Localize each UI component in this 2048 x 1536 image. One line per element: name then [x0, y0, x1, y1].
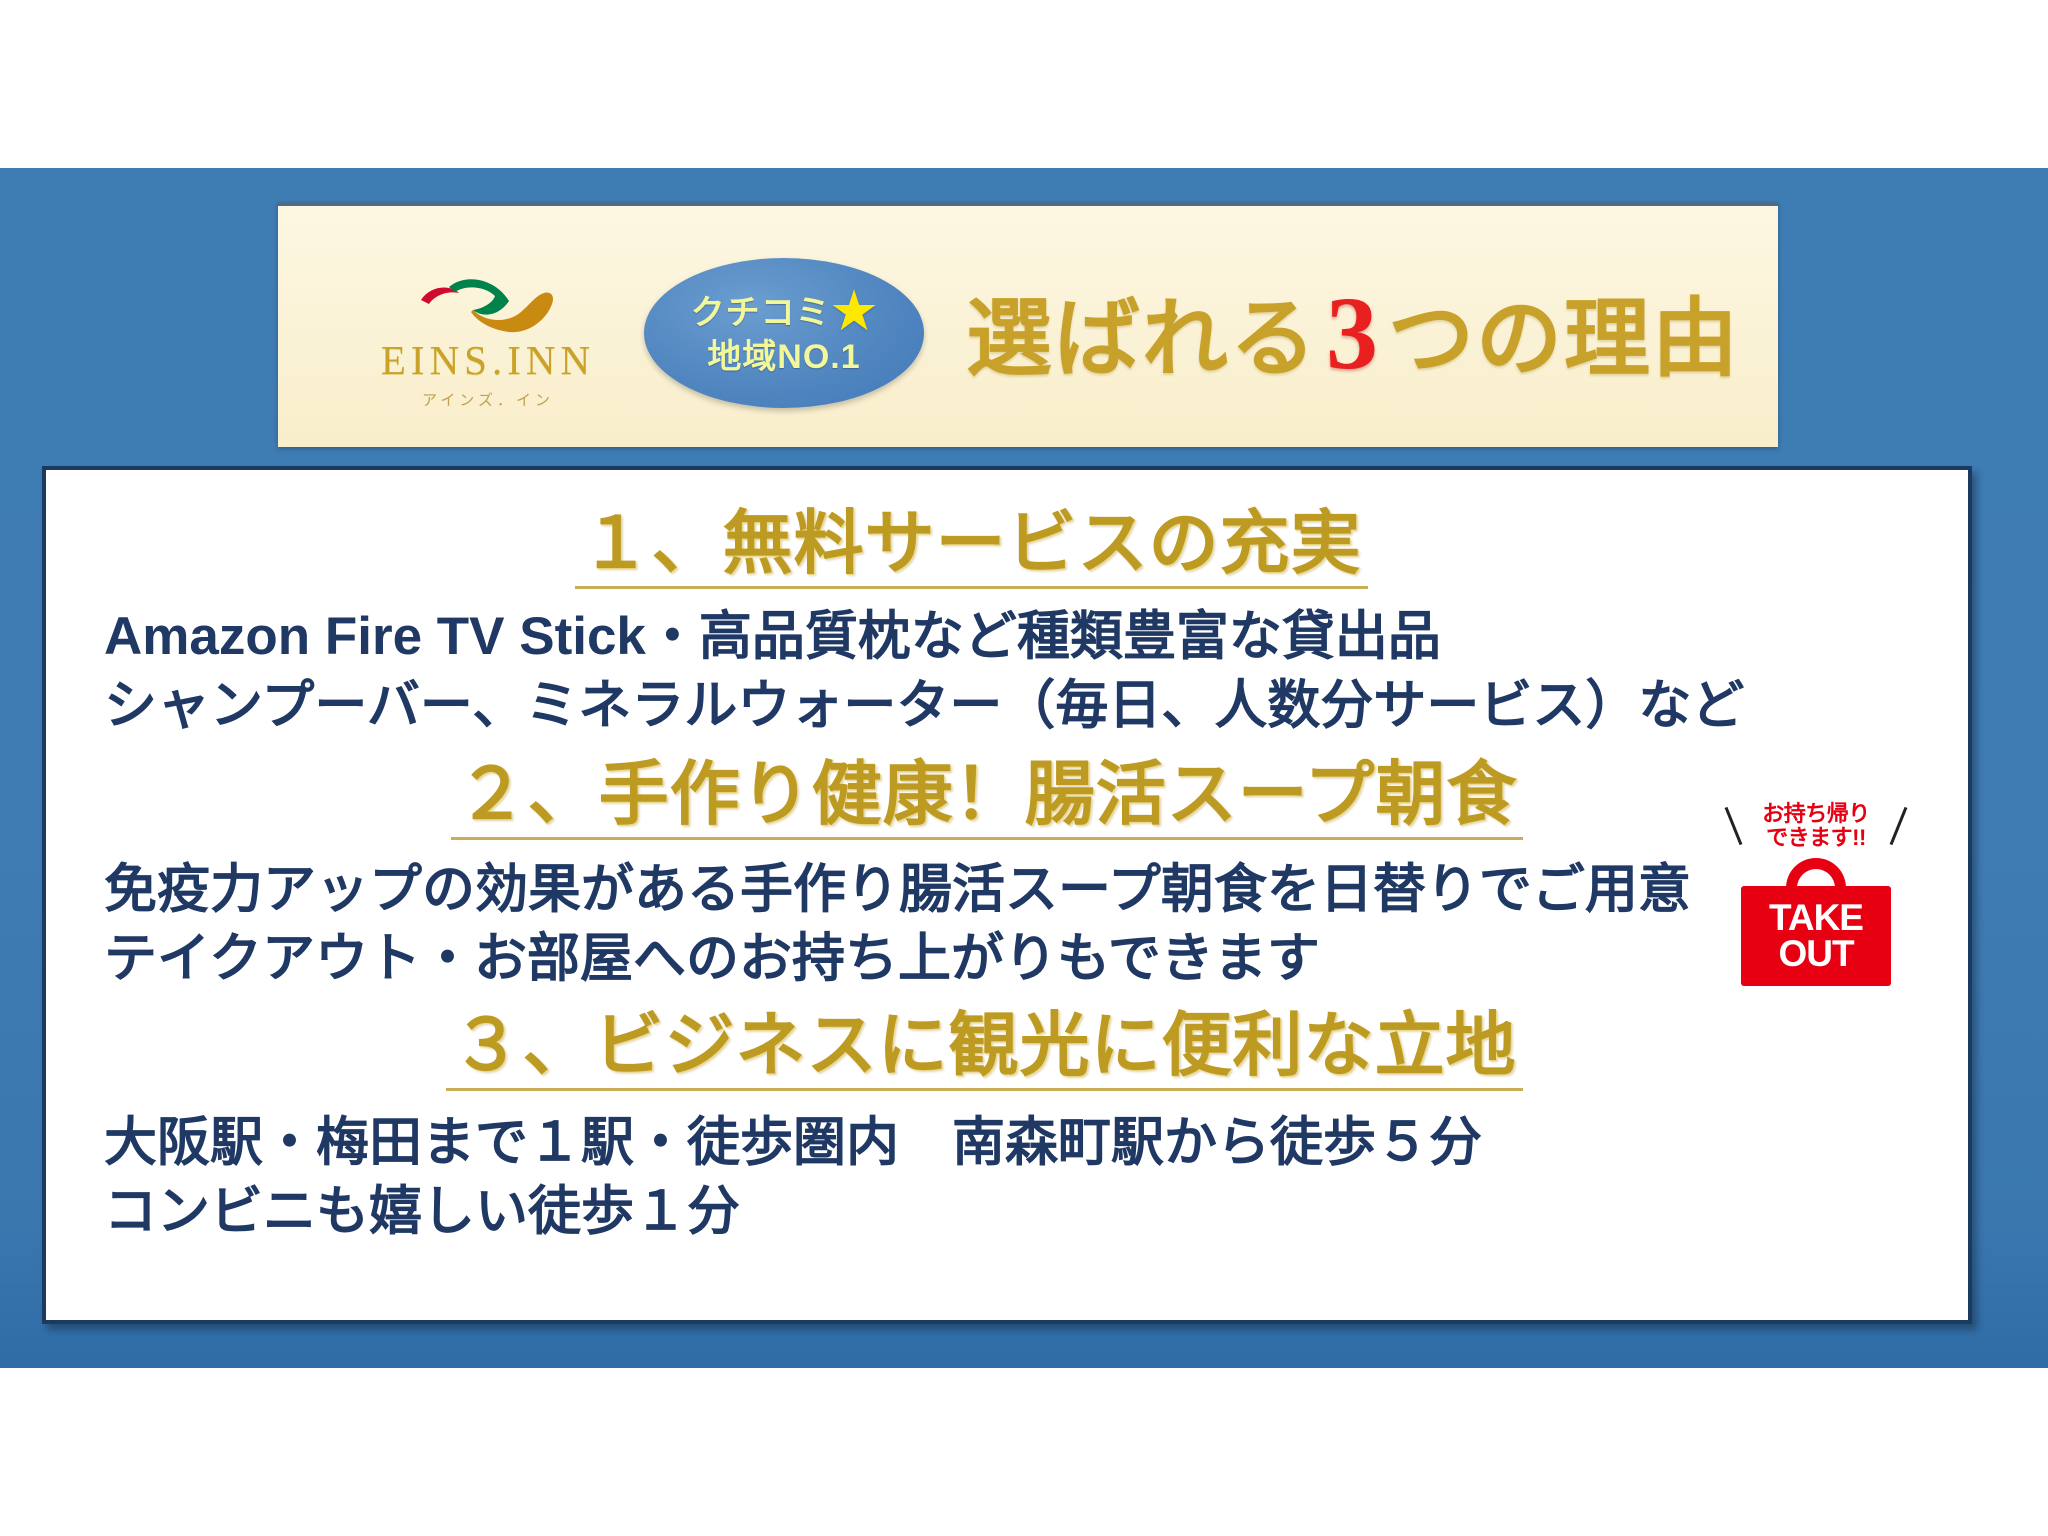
review-rank-badge: クチコミ ★ 地域NO.1 [644, 258, 924, 408]
badge-line-1: クチコミ ★ [691, 288, 878, 338]
reason-block-1: １、無料サービスの充実 Amazon Fire TV Stick・高品質枕など種… [104, 508, 1910, 741]
brand-name: EINS.INN [338, 340, 638, 381]
reason-body-3-line-1: 大阪駅・梅田まで１駅・徒歩圏内 南森町駅から徒歩５分 [104, 1109, 1910, 1178]
star-icon: ★ [832, 286, 878, 336]
slide-page: EINS.INN アインズ．イン クチコミ ★ 地域NO.1 選ばれる3つの理由… [0, 0, 2048, 1536]
reason-heading-1: １、無料サービスの充実 [575, 508, 1368, 589]
takeout-word-out: OUT [1778, 936, 1853, 972]
reason-heading-wrap-3: ３、ビジネスに観光に便利な立地 [58, 1010, 1910, 1091]
badge-line-2: 地域NO.1 [707, 338, 860, 376]
reason-body-3-line-2: コンビニも嬉しい徒歩１分 [104, 1178, 1910, 1247]
bird-swoosh-icon [403, 260, 573, 338]
page-title-number: 3 [1326, 276, 1380, 391]
page-title: 選ばれる3つの理由 [966, 268, 1778, 393]
reason-block-2: ２、手作り健康！腸活スープ朝食 免疫力アップの効果がある手作り腸活スープ朝食を日… [104, 759, 1910, 994]
reason-body-3: 大阪駅・梅田まで１駅・徒歩圏内 南森町駅から徒歩５分 コンビニも嬉しい徒歩１分 [104, 1109, 1910, 1247]
takeout-caption-line-2: できます!! [1730, 826, 1902, 850]
takeout-caption: お持ち帰り できます!! [1730, 802, 1902, 850]
brand-kana: アインズ．イン [338, 389, 638, 410]
page-title-pre: 選ばれる [966, 291, 1318, 387]
page-title-post: つの理由 [1388, 291, 1740, 387]
badge-text-kuchikomi: クチコミ [691, 294, 831, 332]
reason-heading-wrap-2: ２、手作り健康！腸活スープ朝食 [64, 759, 1910, 840]
reasons-content-box: １、無料サービスの充実 Amazon Fire TV Stick・高品質枕など種… [42, 466, 1972, 1324]
takeout-badge: お持ち帰り できます!! TAKE OUT [1730, 802, 1902, 986]
reason-body-1-line-2: シャンプーバー、ミネラルウォーター（毎日、人数分サービス）など [104, 672, 1910, 741]
shopping-bag-icon: TAKE OUT [1741, 858, 1891, 986]
takeout-caption-line-1: お持ち帰り [1730, 802, 1902, 826]
reason-block-3: ３、ビジネスに観光に便利な立地 大阪駅・梅田まで１駅・徒歩圏内 南森町駅から徒歩… [104, 1010, 1910, 1247]
reason-heading-3: ３、ビジネスに観光に便利な立地 [446, 1010, 1523, 1091]
header-banner: EINS.INN アインズ．イン クチコミ ★ 地域NO.1 選ばれる3つの理由 [278, 202, 1778, 447]
reason-body-1: Amazon Fire TV Stick・高品質枕など種類豊富な貸出品 シャンプ… [104, 603, 1910, 741]
bag-body: TAKE OUT [1741, 886, 1891, 986]
reason-heading-wrap-1: １、無料サービスの充実 [32, 508, 1910, 589]
reason-body-1-line-1: Amazon Fire TV Stick・高品質枕など種類豊富な貸出品 [104, 603, 1910, 672]
reason-body-2-line-1: 免疫力アップの効果がある手作り腸活スープ朝食を日替りでご用意 [104, 856, 1910, 925]
takeout-word-take: TAKE [1769, 900, 1863, 936]
reason-body-2: 免疫力アップの効果がある手作り腸活スープ朝食を日替りでご用意 テイクアウト・お部… [104, 856, 1910, 994]
reason-heading-2: ２、手作り健康！腸活スープ朝食 [451, 759, 1524, 840]
reason-body-2-line-2: テイクアウト・お部屋へのお持ち上がりもできます [104, 925, 1910, 994]
brand-logo: EINS.INN アインズ．イン [338, 260, 638, 410]
